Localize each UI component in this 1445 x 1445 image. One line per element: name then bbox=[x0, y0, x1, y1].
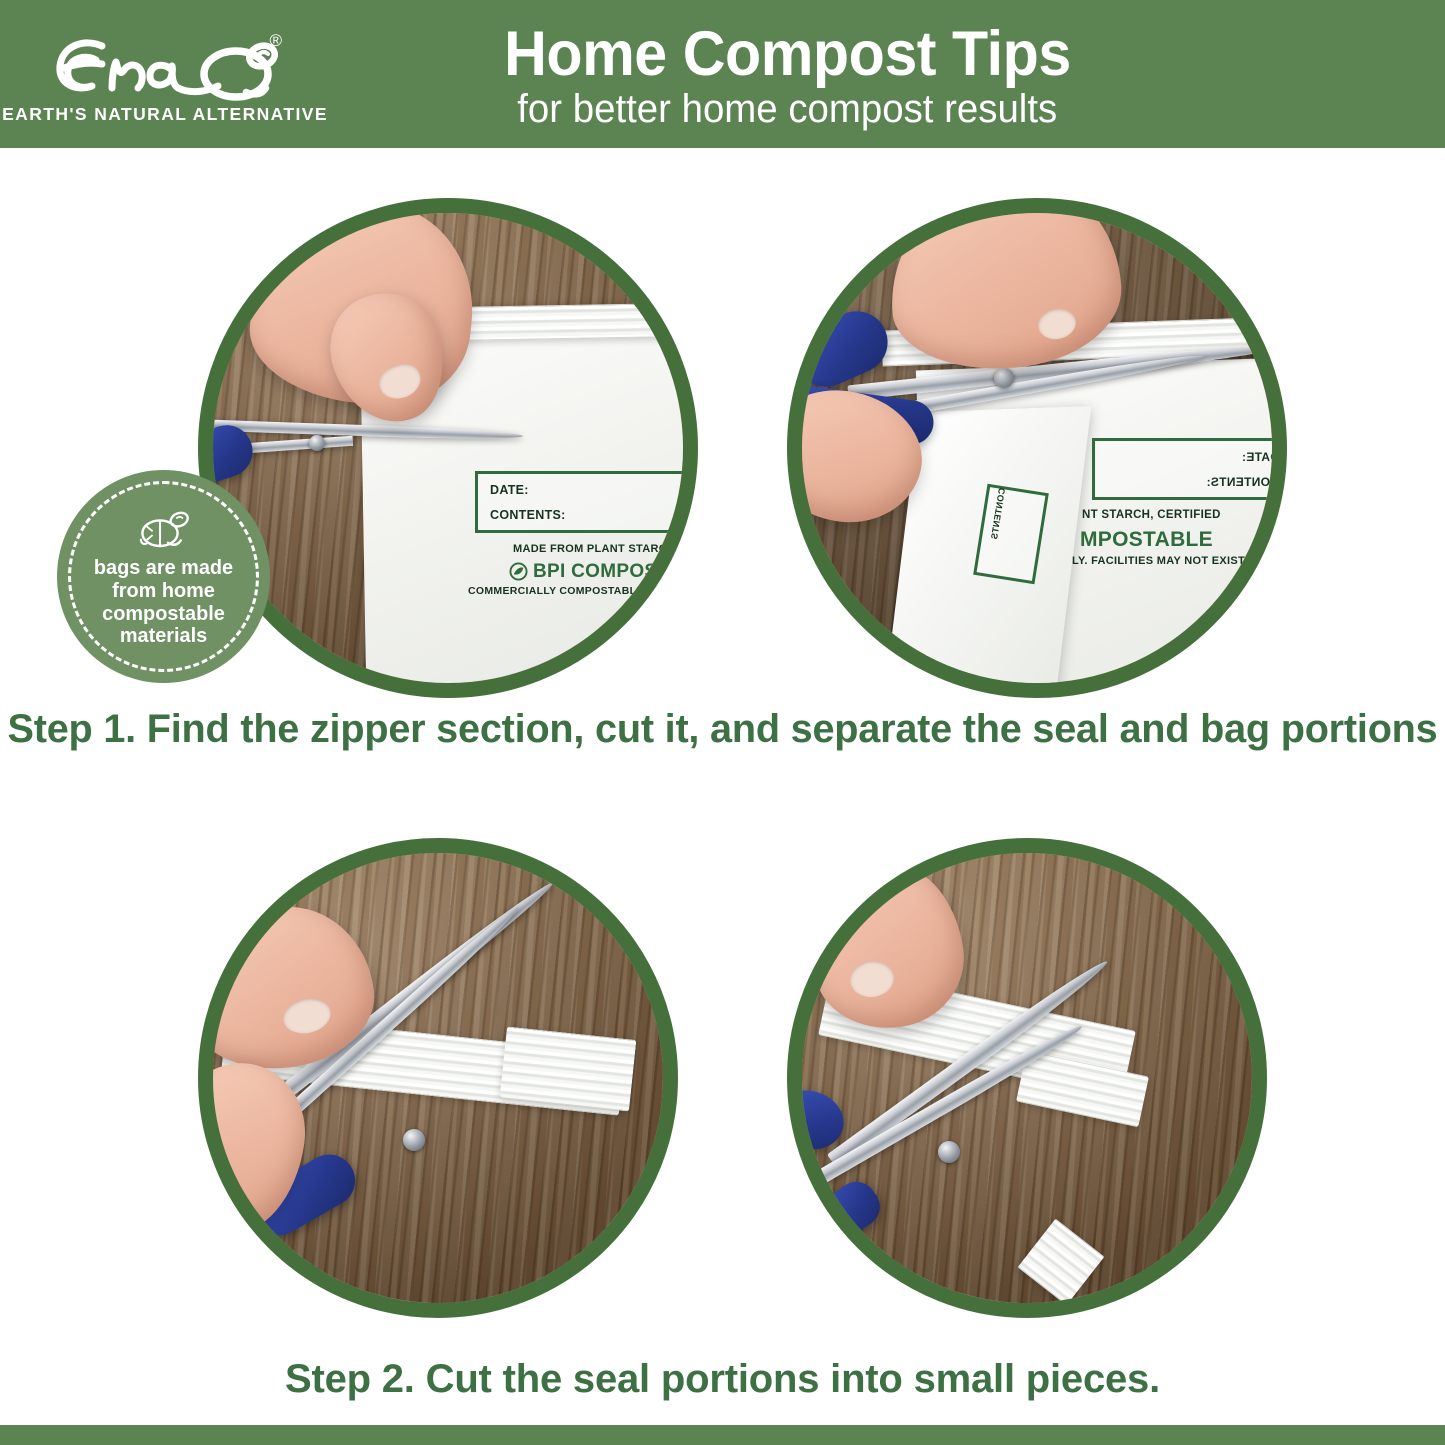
turtle-outline-icon bbox=[136, 509, 192, 551]
bag-label-box: DATE: CONTENTS: bbox=[475, 471, 698, 533]
step-1-photo-left: DATE: CONTENTS: MADE FROM PLANT STARCH, … bbox=[198, 198, 698, 698]
bag-contents-field: CONTENTS: bbox=[1206, 475, 1279, 489]
bpi-seal-icon bbox=[509, 562, 528, 581]
bag-print-line-3: COMMERCIALLY COMPOSTABLE ONLY. FACILITIE… bbox=[468, 585, 698, 597]
logo-mark: ® bbox=[40, 30, 290, 108]
brand-logo: ® EARTH'S NATURAL ALTERNATIVE bbox=[0, 0, 330, 148]
page-title: Home Compost Tips bbox=[504, 22, 1071, 86]
bag-print-line-1: NT STARCH, CERTIFIED bbox=[1082, 509, 1221, 521]
bag-print-line-1: MADE FROM PLANT STARCH, CER bbox=[513, 543, 698, 555]
ena-turtle-logo-icon bbox=[40, 30, 290, 108]
home-compostable-badge: bags are made from home compostable mate… bbox=[57, 470, 270, 683]
footer-bar bbox=[0, 1425, 1445, 1445]
page-subtitle: for better home compost results bbox=[518, 88, 1058, 130]
bag-contents-field: CONTENTS: bbox=[490, 508, 566, 522]
bag-print-line-2: MPOSTABLE bbox=[1080, 528, 1213, 552]
bag-print-line-2: BPI COMPOST bbox=[533, 561, 669, 583]
registered-trademark-icon: ® bbox=[269, 32, 282, 49]
badge-text: bags are made from home compostable mate… bbox=[60, 557, 267, 649]
step-2-photo-left bbox=[198, 838, 678, 1318]
bag-print-line-3: LY. FACILITIES MAY NOT EXIST IN YOUR AR bbox=[1072, 555, 1287, 567]
step-2-photo-right bbox=[787, 838, 1267, 1318]
step-2-caption: Step 2. Cut the seal portions into small… bbox=[0, 1357, 1445, 1402]
page-header: ® EARTH'S NATURAL ALTERNATIVE Home Compo… bbox=[0, 0, 1445, 148]
bag-label-box-mirrored: DATE: CONTENTS: bbox=[1092, 438, 1287, 500]
bag-date-field: DATE: bbox=[1242, 450, 1279, 464]
bag-date-field: DATE: bbox=[490, 483, 529, 497]
infographic-page: ® EARTH'S NATURAL ALTERNATIVE Home Compo… bbox=[0, 0, 1445, 1445]
header-title-block: Home Compost Tips for better home compos… bbox=[330, 0, 1445, 148]
step-1-caption: Step 1. Find the zipper section, cut it,… bbox=[7, 707, 1438, 752]
step-1-photo-right: DATE: CONTENTS: NT STARCH, CERTIFIED MPO… bbox=[787, 198, 1287, 698]
